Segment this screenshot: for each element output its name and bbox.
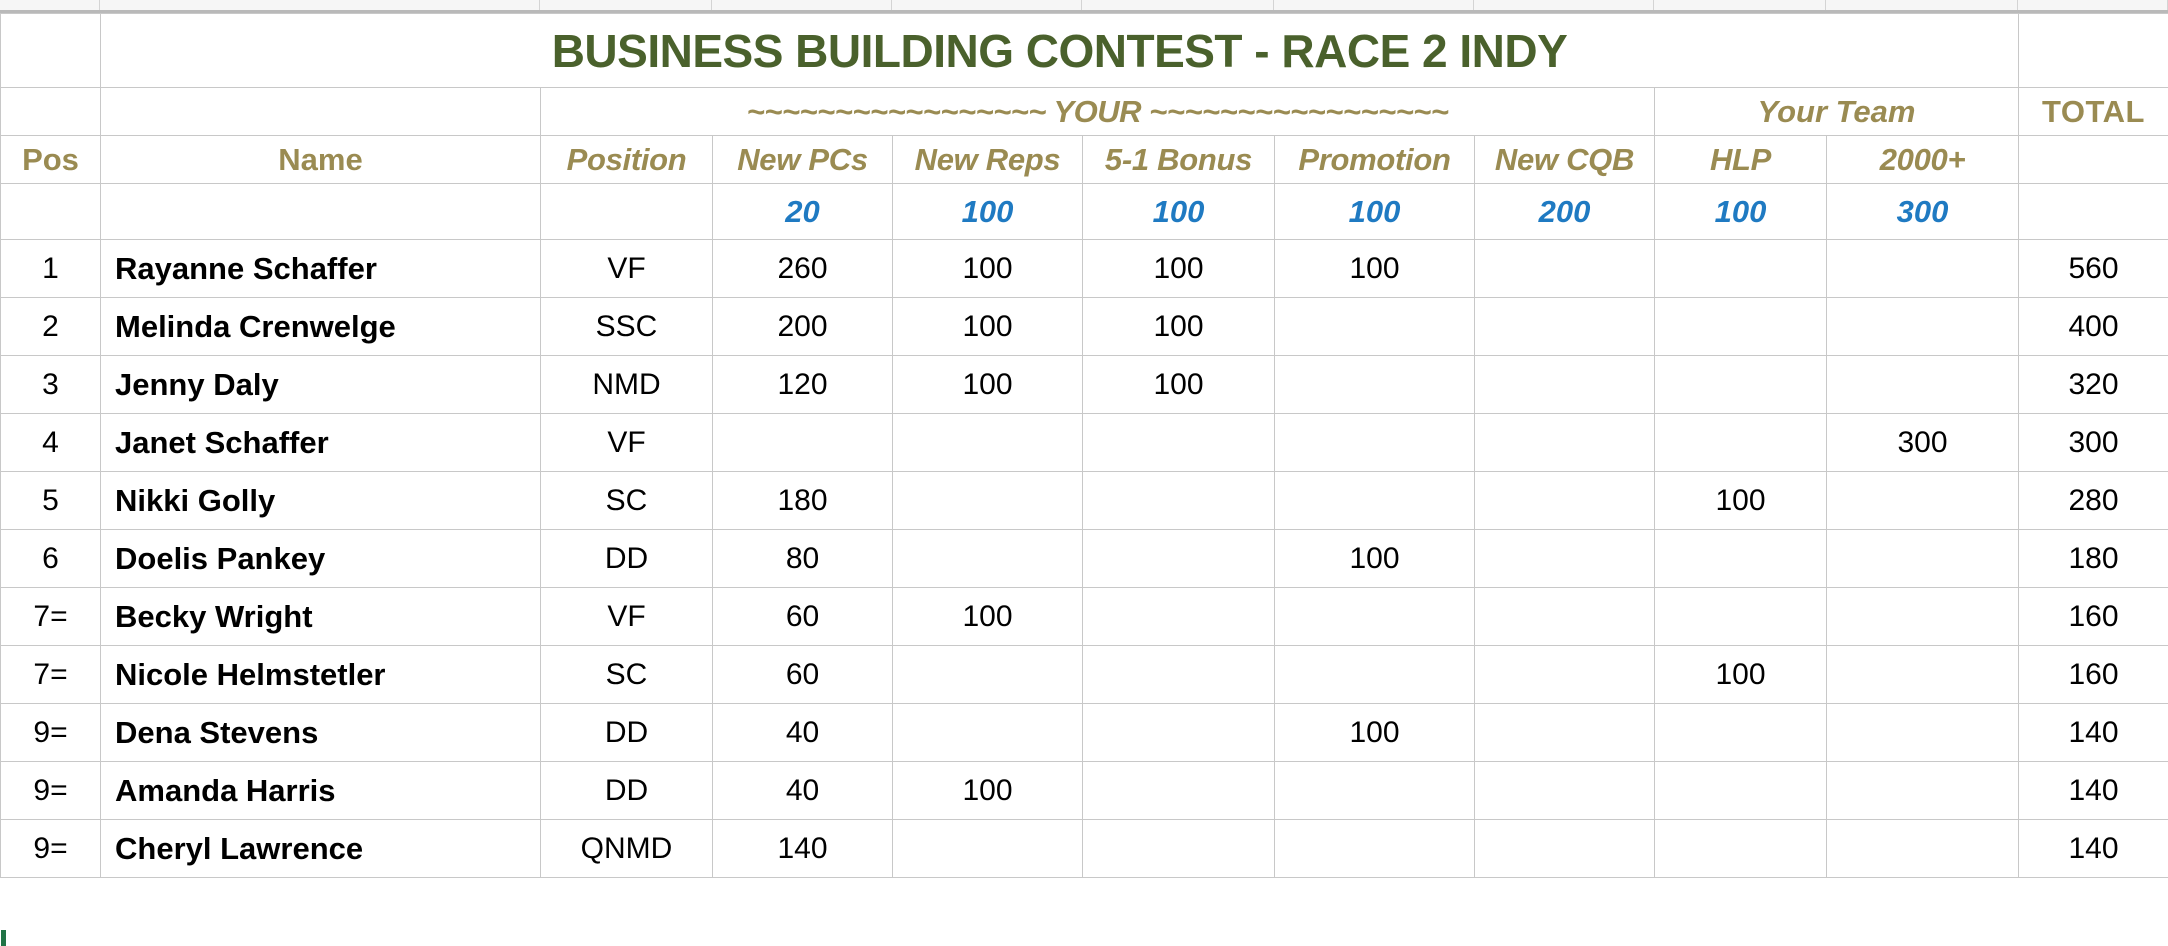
cell-name[interactable]: Dena Stevens (101, 704, 541, 762)
col-header-total[interactable] (2019, 136, 2168, 184)
col-header-new_pcs[interactable]: New PCs (713, 136, 893, 184)
cell-new_reps[interactable] (893, 472, 1083, 530)
cell-hlp[interactable] (1655, 356, 1827, 414)
cell-total[interactable]: 140 (2019, 820, 2168, 878)
cell-position[interactable]: DD (541, 762, 713, 820)
band-name-cell[interactable] (101, 88, 541, 136)
cell-new_pcs[interactable]: 40 (713, 704, 893, 762)
cell-new_pcs[interactable]: 60 (713, 588, 893, 646)
cell-hlp[interactable]: 100 (1655, 472, 1827, 530)
cell-new_cqb[interactable] (1475, 298, 1655, 356)
cell-name[interactable]: Amanda Harris (101, 762, 541, 820)
cell-new_cqb[interactable] (1475, 588, 1655, 646)
cell-position[interactable]: VF (541, 414, 713, 472)
cell-position[interactable]: NMD (541, 356, 713, 414)
column-header-cell[interactable] (1654, 0, 1826, 10)
band-your-label: ~~~~~~~~~~~~~~~~~ YOUR ~~~~~~~~~~~~~~~~~ (541, 88, 1655, 136)
cell-total[interactable]: 320 (2019, 356, 2168, 414)
column-header-cell[interactable] (712, 0, 892, 10)
cell-new_pcs[interactable]: 200 (713, 298, 893, 356)
cell-position[interactable]: VF (541, 240, 713, 298)
cell-plus2000[interactable] (1827, 356, 2019, 414)
col-header-new_reps[interactable]: New Reps (893, 136, 1083, 184)
cell-promotion[interactable]: 100 (1275, 240, 1475, 298)
cell-promotion[interactable] (1275, 356, 1475, 414)
point-value-pos[interactable] (1, 184, 101, 240)
table-row: 4Janet SchafferVF300300 (1, 414, 2168, 472)
cell-new_reps[interactable]: 100 (893, 356, 1083, 414)
cell-plus2000[interactable] (1827, 588, 2019, 646)
col-header-pos[interactable]: Pos (1, 136, 101, 184)
cell-promotion[interactable]: 100 (1275, 704, 1475, 762)
cell-bonus[interactable] (1083, 704, 1275, 762)
point-value-total[interactable] (2019, 184, 2168, 240)
cell-position[interactable]: DD (541, 704, 713, 762)
active-cell-marker (1, 930, 6, 946)
cell-pos[interactable]: 2 (1, 298, 101, 356)
cell-position[interactable]: VF (541, 588, 713, 646)
cell-new_reps[interactable]: 100 (893, 240, 1083, 298)
cell-new_pcs[interactable] (713, 414, 893, 472)
cell-promotion[interactable] (1275, 472, 1475, 530)
cell-total[interactable]: 180 (2019, 530, 2168, 588)
cell-hlp[interactable] (1655, 820, 1827, 878)
band-total-label: TOTAL (2019, 88, 2168, 136)
title-row: BUSINESS BUILDING CONTEST - RACE 2 INDY (1, 14, 2168, 88)
cell-total[interactable]: 400 (2019, 298, 2168, 356)
cell-name[interactable]: Jenny Daly (101, 356, 541, 414)
point-value-bonus[interactable]: 100 (1083, 184, 1275, 240)
cell-new_pcs[interactable]: 40 (713, 762, 893, 820)
cell-plus2000[interactable] (1827, 646, 2019, 704)
cell-new_cqb[interactable] (1475, 530, 1655, 588)
cell-hlp[interactable] (1655, 704, 1827, 762)
cell-pos[interactable]: 4 (1, 414, 101, 472)
cell-position[interactable]: SC (541, 646, 713, 704)
cell-new_reps[interactable] (893, 704, 1083, 762)
point-value-new_reps[interactable]: 100 (893, 184, 1083, 240)
section-band-row: ~~~~~~~~~~~~~~~~~ YOUR ~~~~~~~~~~~~~~~~~… (1, 88, 2168, 136)
cell-total[interactable]: 160 (2019, 588, 2168, 646)
cell-new_pcs[interactable]: 180 (713, 472, 893, 530)
cell-pos[interactable]: 5 (1, 472, 101, 530)
cell-name[interactable]: Cheryl Lawrence (101, 820, 541, 878)
cell-name[interactable]: Nicole Helmstetler (101, 646, 541, 704)
cell-new_reps[interactable]: 100 (893, 588, 1083, 646)
cell-promotion[interactable]: 100 (1275, 530, 1475, 588)
cell-hlp[interactable] (1655, 240, 1827, 298)
col-header-position[interactable]: Position (541, 136, 713, 184)
point-value-position[interactable] (541, 184, 713, 240)
cell-bonus[interactable]: 100 (1083, 240, 1275, 298)
cell-total[interactable]: 140 (2019, 704, 2168, 762)
point-value-plus2000[interactable]: 300 (1827, 184, 2019, 240)
cell-plus2000[interactable] (1827, 820, 2019, 878)
cell-plus2000[interactable] (1827, 704, 2019, 762)
cell-bonus[interactable] (1083, 588, 1275, 646)
point-value-promotion[interactable]: 100 (1275, 184, 1475, 240)
cell-new_pcs[interactable]: 60 (713, 646, 893, 704)
cell-total[interactable]: 160 (2019, 646, 2168, 704)
column-header-cell[interactable] (100, 0, 540, 10)
band-pos-cell[interactable] (1, 88, 101, 136)
table-row: 3Jenny DalyNMD120100100320 (1, 356, 2168, 414)
cell-promotion[interactable] (1275, 646, 1475, 704)
band-your-team-label: Your Team (1655, 88, 2019, 136)
spreadsheet-canvas: BUSINESS BUILDING CONTEST - RACE 2 INDY~… (0, 0, 2168, 946)
cell-new_pcs[interactable]: 140 (713, 820, 893, 878)
cell-new_cqb[interactable] (1475, 414, 1655, 472)
cell-pos[interactable]: 9= (1, 820, 101, 878)
cell-pos[interactable]: 7= (1, 646, 101, 704)
cell-pos[interactable]: 6 (1, 530, 101, 588)
column-header-strip (0, 0, 2168, 13)
cell-new_reps[interactable] (893, 530, 1083, 588)
cell-hlp[interactable] (1655, 588, 1827, 646)
cell-plus2000[interactable] (1827, 240, 2019, 298)
table-row: 6Doelis PankeyDD80100180 (1, 530, 2168, 588)
title-trailing-cell[interactable] (2019, 14, 2168, 88)
cell-bonus[interactable]: 100 (1083, 356, 1275, 414)
table-row: 5Nikki GollySC180100280 (1, 472, 2168, 530)
cell-promotion[interactable] (1275, 820, 1475, 878)
cell-plus2000[interactable] (1827, 298, 2019, 356)
cell-new_cqb[interactable] (1475, 762, 1655, 820)
cell-hlp[interactable] (1655, 530, 1827, 588)
cell-hlp[interactable] (1655, 414, 1827, 472)
cell-promotion[interactable] (1275, 298, 1475, 356)
column-labels-row: PosNamePositionNew PCsNew Reps5-1 BonusP… (1, 136, 2168, 184)
cell-new_cqb[interactable] (1475, 240, 1655, 298)
cell-plus2000[interactable] (1827, 472, 2019, 530)
col-header-hlp[interactable]: HLP (1655, 136, 1827, 184)
cell-bonus[interactable] (1083, 762, 1275, 820)
cell-position[interactable]: SC (541, 472, 713, 530)
cell-pos[interactable]: 7= (1, 588, 101, 646)
column-header-cell[interactable] (2018, 0, 2168, 10)
col-header-new_cqb[interactable]: New CQB (1475, 136, 1655, 184)
cell-bonus[interactable] (1083, 414, 1275, 472)
column-header-cell[interactable] (892, 0, 1082, 10)
col-header-name[interactable]: Name (101, 136, 541, 184)
cell-pos[interactable]: 1 (1, 240, 101, 298)
cell-pos[interactable]: 3 (1, 356, 101, 414)
cell-new_reps[interactable]: 100 (893, 762, 1083, 820)
cell-new_cqb[interactable] (1475, 820, 1655, 878)
cell-name[interactable]: Doelis Pankey (101, 530, 541, 588)
cell-total[interactable]: 300 (2019, 414, 2168, 472)
cell-promotion[interactable] (1275, 414, 1475, 472)
cell-total[interactable]: 560 (2019, 240, 2168, 298)
cell-position[interactable]: QNMD (541, 820, 713, 878)
table-row: 9=Cheryl LawrenceQNMD140140 (1, 820, 2168, 878)
col-header-plus2000[interactable]: 2000+ (1827, 136, 2019, 184)
column-header-cell[interactable] (1274, 0, 1474, 10)
table-row: 1Rayanne SchafferVF260100100100560 (1, 240, 2168, 298)
cell-pos[interactable]: 9= (1, 762, 101, 820)
table-row: 9=Amanda HarrisDD40100140 (1, 762, 2168, 820)
cell-new_reps[interactable] (893, 820, 1083, 878)
cell-name[interactable]: Becky Wright (101, 588, 541, 646)
cell-bonus[interactable] (1083, 646, 1275, 704)
cell-new_cqb[interactable] (1475, 646, 1655, 704)
cell-new_cqb[interactable] (1475, 472, 1655, 530)
cell-new_cqb[interactable] (1475, 356, 1655, 414)
cell-name[interactable]: Janet Schaffer (101, 414, 541, 472)
cell-new_pcs[interactable]: 260 (713, 240, 893, 298)
column-header-cell[interactable] (1082, 0, 1274, 10)
cell-hlp[interactable] (1655, 762, 1827, 820)
column-header-cell[interactable] (1826, 0, 2018, 10)
col-header-promotion[interactable]: Promotion (1275, 136, 1475, 184)
cell-new_reps[interactable]: 100 (893, 298, 1083, 356)
cell-plus2000[interactable] (1827, 530, 2019, 588)
cell-new_reps[interactable] (893, 414, 1083, 472)
cell-promotion[interactable] (1275, 588, 1475, 646)
cell-promotion[interactable] (1275, 762, 1475, 820)
point-value-new_pcs[interactable]: 20 (713, 184, 893, 240)
col-header-bonus[interactable]: 5-1 Bonus (1083, 136, 1275, 184)
cell-pos[interactable]: 9= (1, 704, 101, 762)
table-row: 2Melinda CrenwelgeSSC200100100400 (1, 298, 2168, 356)
column-header-cell[interactable] (1474, 0, 1654, 10)
cell-bonus[interactable]: 100 (1083, 298, 1275, 356)
cell-new_pcs[interactable]: 80 (713, 530, 893, 588)
title-spacer-cell[interactable] (1, 14, 101, 88)
contest-leaderboard-table: BUSINESS BUILDING CONTEST - RACE 2 INDY~… (0, 13, 2168, 878)
cell-hlp[interactable] (1655, 298, 1827, 356)
table-row: 9=Dena StevensDD40100140 (1, 704, 2168, 762)
column-header-cell[interactable] (540, 0, 712, 10)
cell-bonus[interactable] (1083, 472, 1275, 530)
point-value-new_cqb[interactable]: 200 (1475, 184, 1655, 240)
cell-plus2000[interactable] (1827, 762, 2019, 820)
cell-position[interactable]: SSC (541, 298, 713, 356)
point-value-name[interactable] (101, 184, 541, 240)
page-title: BUSINESS BUILDING CONTEST - RACE 2 INDY (101, 14, 2019, 88)
cell-position[interactable]: DD (541, 530, 713, 588)
point-values-row: 20100100100200100300 (1, 184, 2168, 240)
cell-bonus[interactable] (1083, 530, 1275, 588)
cell-plus2000[interactable]: 300 (1827, 414, 2019, 472)
cell-new_reps[interactable] (893, 646, 1083, 704)
table-row: 7=Nicole HelmstetlerSC60100160 (1, 646, 2168, 704)
point-value-hlp[interactable]: 100 (1655, 184, 1827, 240)
column-header-cell[interactable] (0, 0, 100, 10)
cell-new_cqb[interactable] (1475, 704, 1655, 762)
cell-new_pcs[interactable]: 120 (713, 356, 893, 414)
cell-total[interactable]: 280 (2019, 472, 2168, 530)
table-row: 7=Becky WrightVF60100160 (1, 588, 2168, 646)
cell-hlp[interactable]: 100 (1655, 646, 1827, 704)
cell-total[interactable]: 140 (2019, 762, 2168, 820)
cell-name[interactable]: Melinda Crenwelge (101, 298, 541, 356)
cell-bonus[interactable] (1083, 820, 1275, 878)
cell-name[interactable]: Nikki Golly (101, 472, 541, 530)
cell-name[interactable]: Rayanne Schaffer (101, 240, 541, 298)
